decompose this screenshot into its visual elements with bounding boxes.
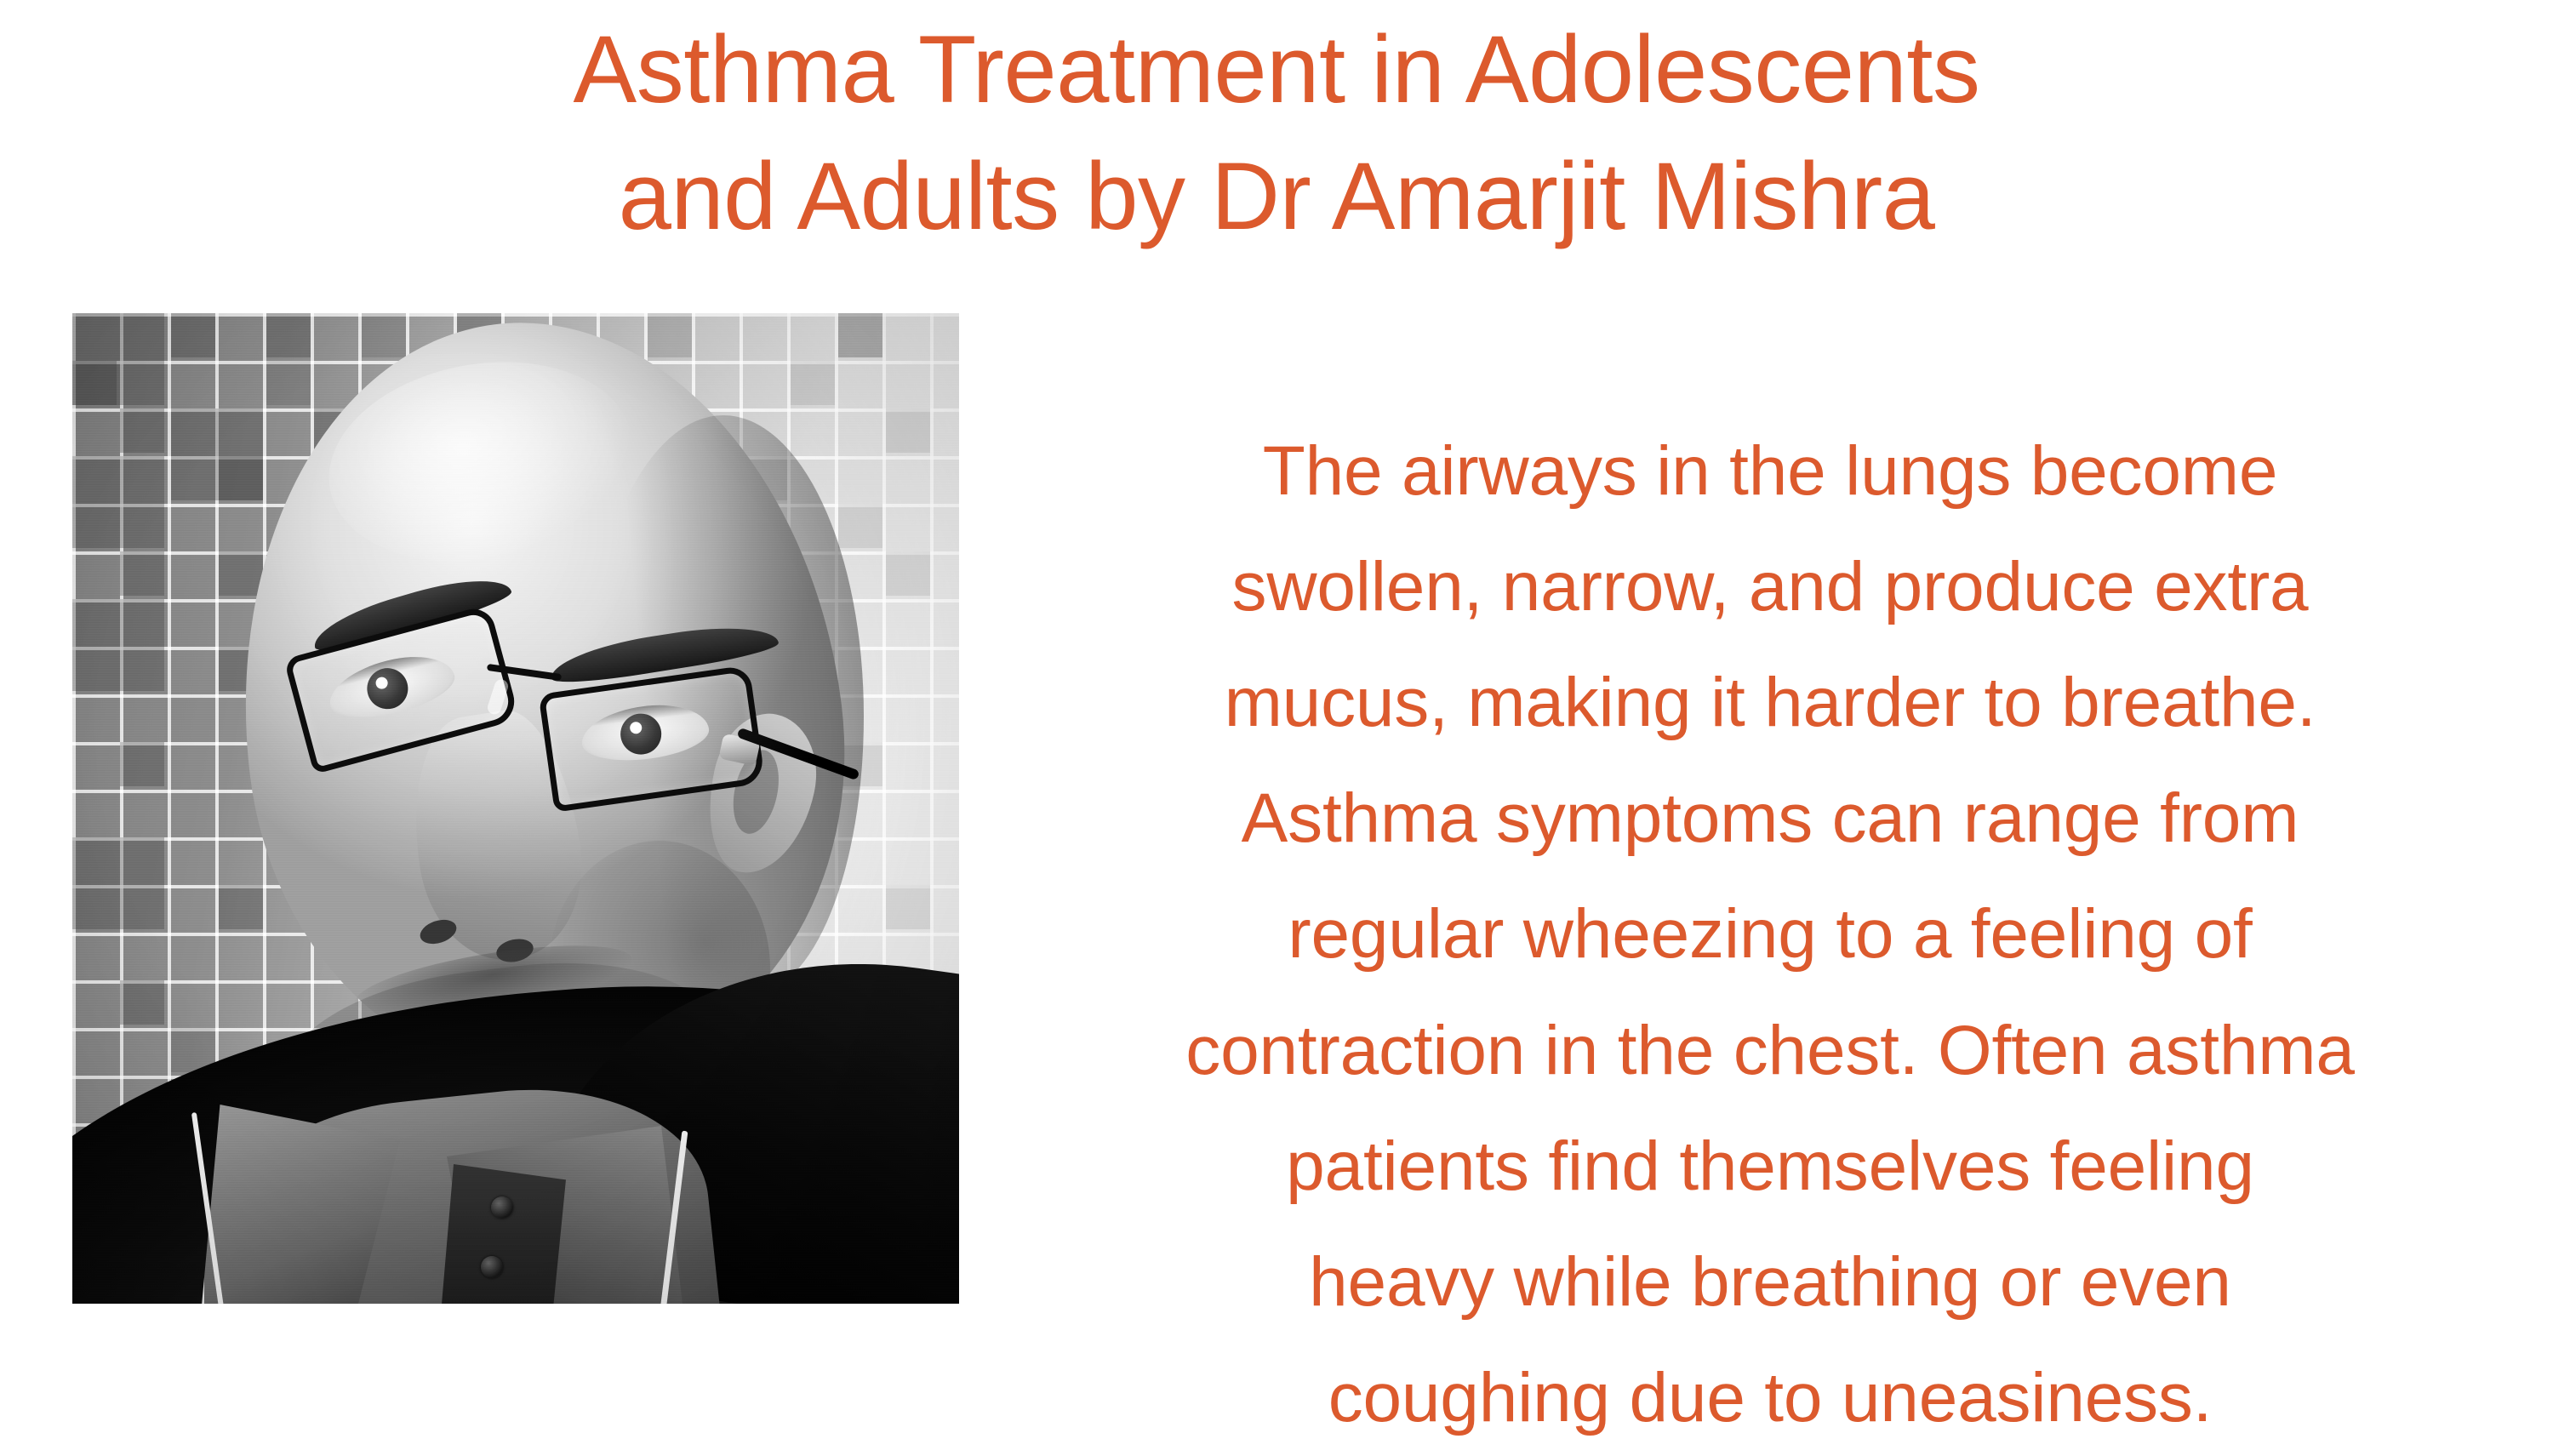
page-title: Asthma Treatment in Adolescents and Adul… <box>128 7 2425 260</box>
photo-grain <box>72 313 959 1304</box>
slide-canvas: Asthma Treatment in Adolescents and Adul… <box>0 0 2553 1436</box>
portrait-photo <box>72 313 959 1304</box>
body-paragraph: The airways in the lungs become swollen,… <box>1004 414 2536 1456</box>
portrait-photo-canvas <box>72 313 959 1304</box>
